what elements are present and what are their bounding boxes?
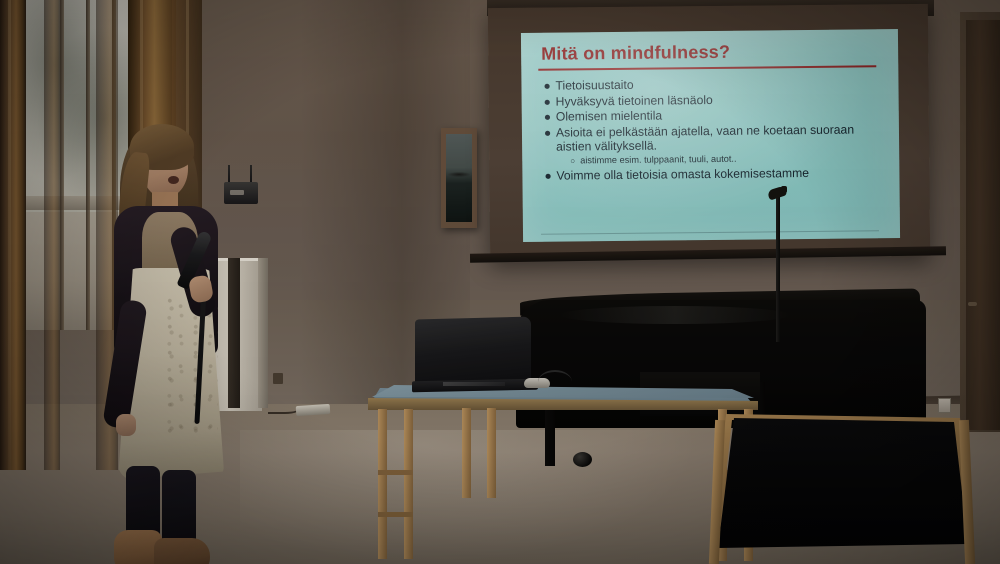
presenter-lowered-hand <box>116 414 136 436</box>
door[interactable] <box>966 20 1000 430</box>
presentation-photo-scene: Mitä on mindfulness? ●Tietoisuustaito●Hy… <box>0 0 1000 564</box>
window-mullion <box>86 0 90 330</box>
bullet-dot-icon: ● <box>544 169 556 184</box>
side-table-top <box>718 418 968 548</box>
slide-bullet: ●Asioita ei pelkästään ajatella, vaan ne… <box>544 122 889 155</box>
door-handle[interactable] <box>968 302 977 306</box>
microphone-clip <box>781 186 787 193</box>
light-switch[interactable] <box>938 398 951 413</box>
table-brace <box>378 470 413 475</box>
table-leg <box>378 409 387 559</box>
piano-highlight <box>560 306 790 324</box>
presenter-mouth <box>168 176 179 184</box>
slide-bullet: ●Voimme olla tietoisia omasta kokemisest… <box>544 165 889 183</box>
slide-bullet-list: ●Tietoisuustaito●Hyväksyvä tietoinen läs… <box>543 75 889 184</box>
curtain-fold-highlight <box>8 0 11 470</box>
slide-bullet-text: Asioita ei pelkästään ajatella, vaan ne … <box>556 122 889 155</box>
window-mullion <box>60 0 64 330</box>
picture-horizon-detail <box>448 172 470 177</box>
curtain <box>44 0 60 470</box>
microphone-stand-pole <box>776 196 780 342</box>
bullet-dot-icon: ● <box>544 110 556 125</box>
presenter-dress-lace-pattern <box>162 296 218 446</box>
table-leg <box>462 408 471 498</box>
slide-bullet-text: Voimme olla tietoisia omasta kokemisesta… <box>556 165 889 183</box>
table-leg <box>404 409 413 559</box>
bullet-dot-icon: ● <box>544 94 556 109</box>
curtain <box>0 0 26 470</box>
slide-title: Mitä on mindfulness? <box>541 42 730 65</box>
presenter <box>92 118 262 564</box>
picture-canvas <box>446 134 472 222</box>
piano-caster-wheel <box>573 452 592 467</box>
presentation-slide: Mitä on mindfulness? ●Tietoisuustaito●Hy… <box>521 29 900 242</box>
laptop-brand-label <box>443 382 505 386</box>
presenter-boot <box>154 538 210 564</box>
table-leg <box>487 408 496 498</box>
table-brace <box>378 512 413 517</box>
slide-footer-rule <box>541 230 879 235</box>
slide-sub-bullet-text: aistimme esim. tulppaanit, tuuli, autot.… <box>580 154 736 167</box>
slide-title-rule <box>538 65 876 71</box>
bullet-dot-icon: ● <box>543 79 555 94</box>
slide-sub-bullet: ○aistimme esim. tulppaanit, tuuli, autot… <box>570 152 889 166</box>
sub-bullet-circle-icon: ○ <box>570 155 580 166</box>
wall-outlet[interactable] <box>273 373 283 384</box>
bullet-dot-icon: ● <box>544 125 556 140</box>
